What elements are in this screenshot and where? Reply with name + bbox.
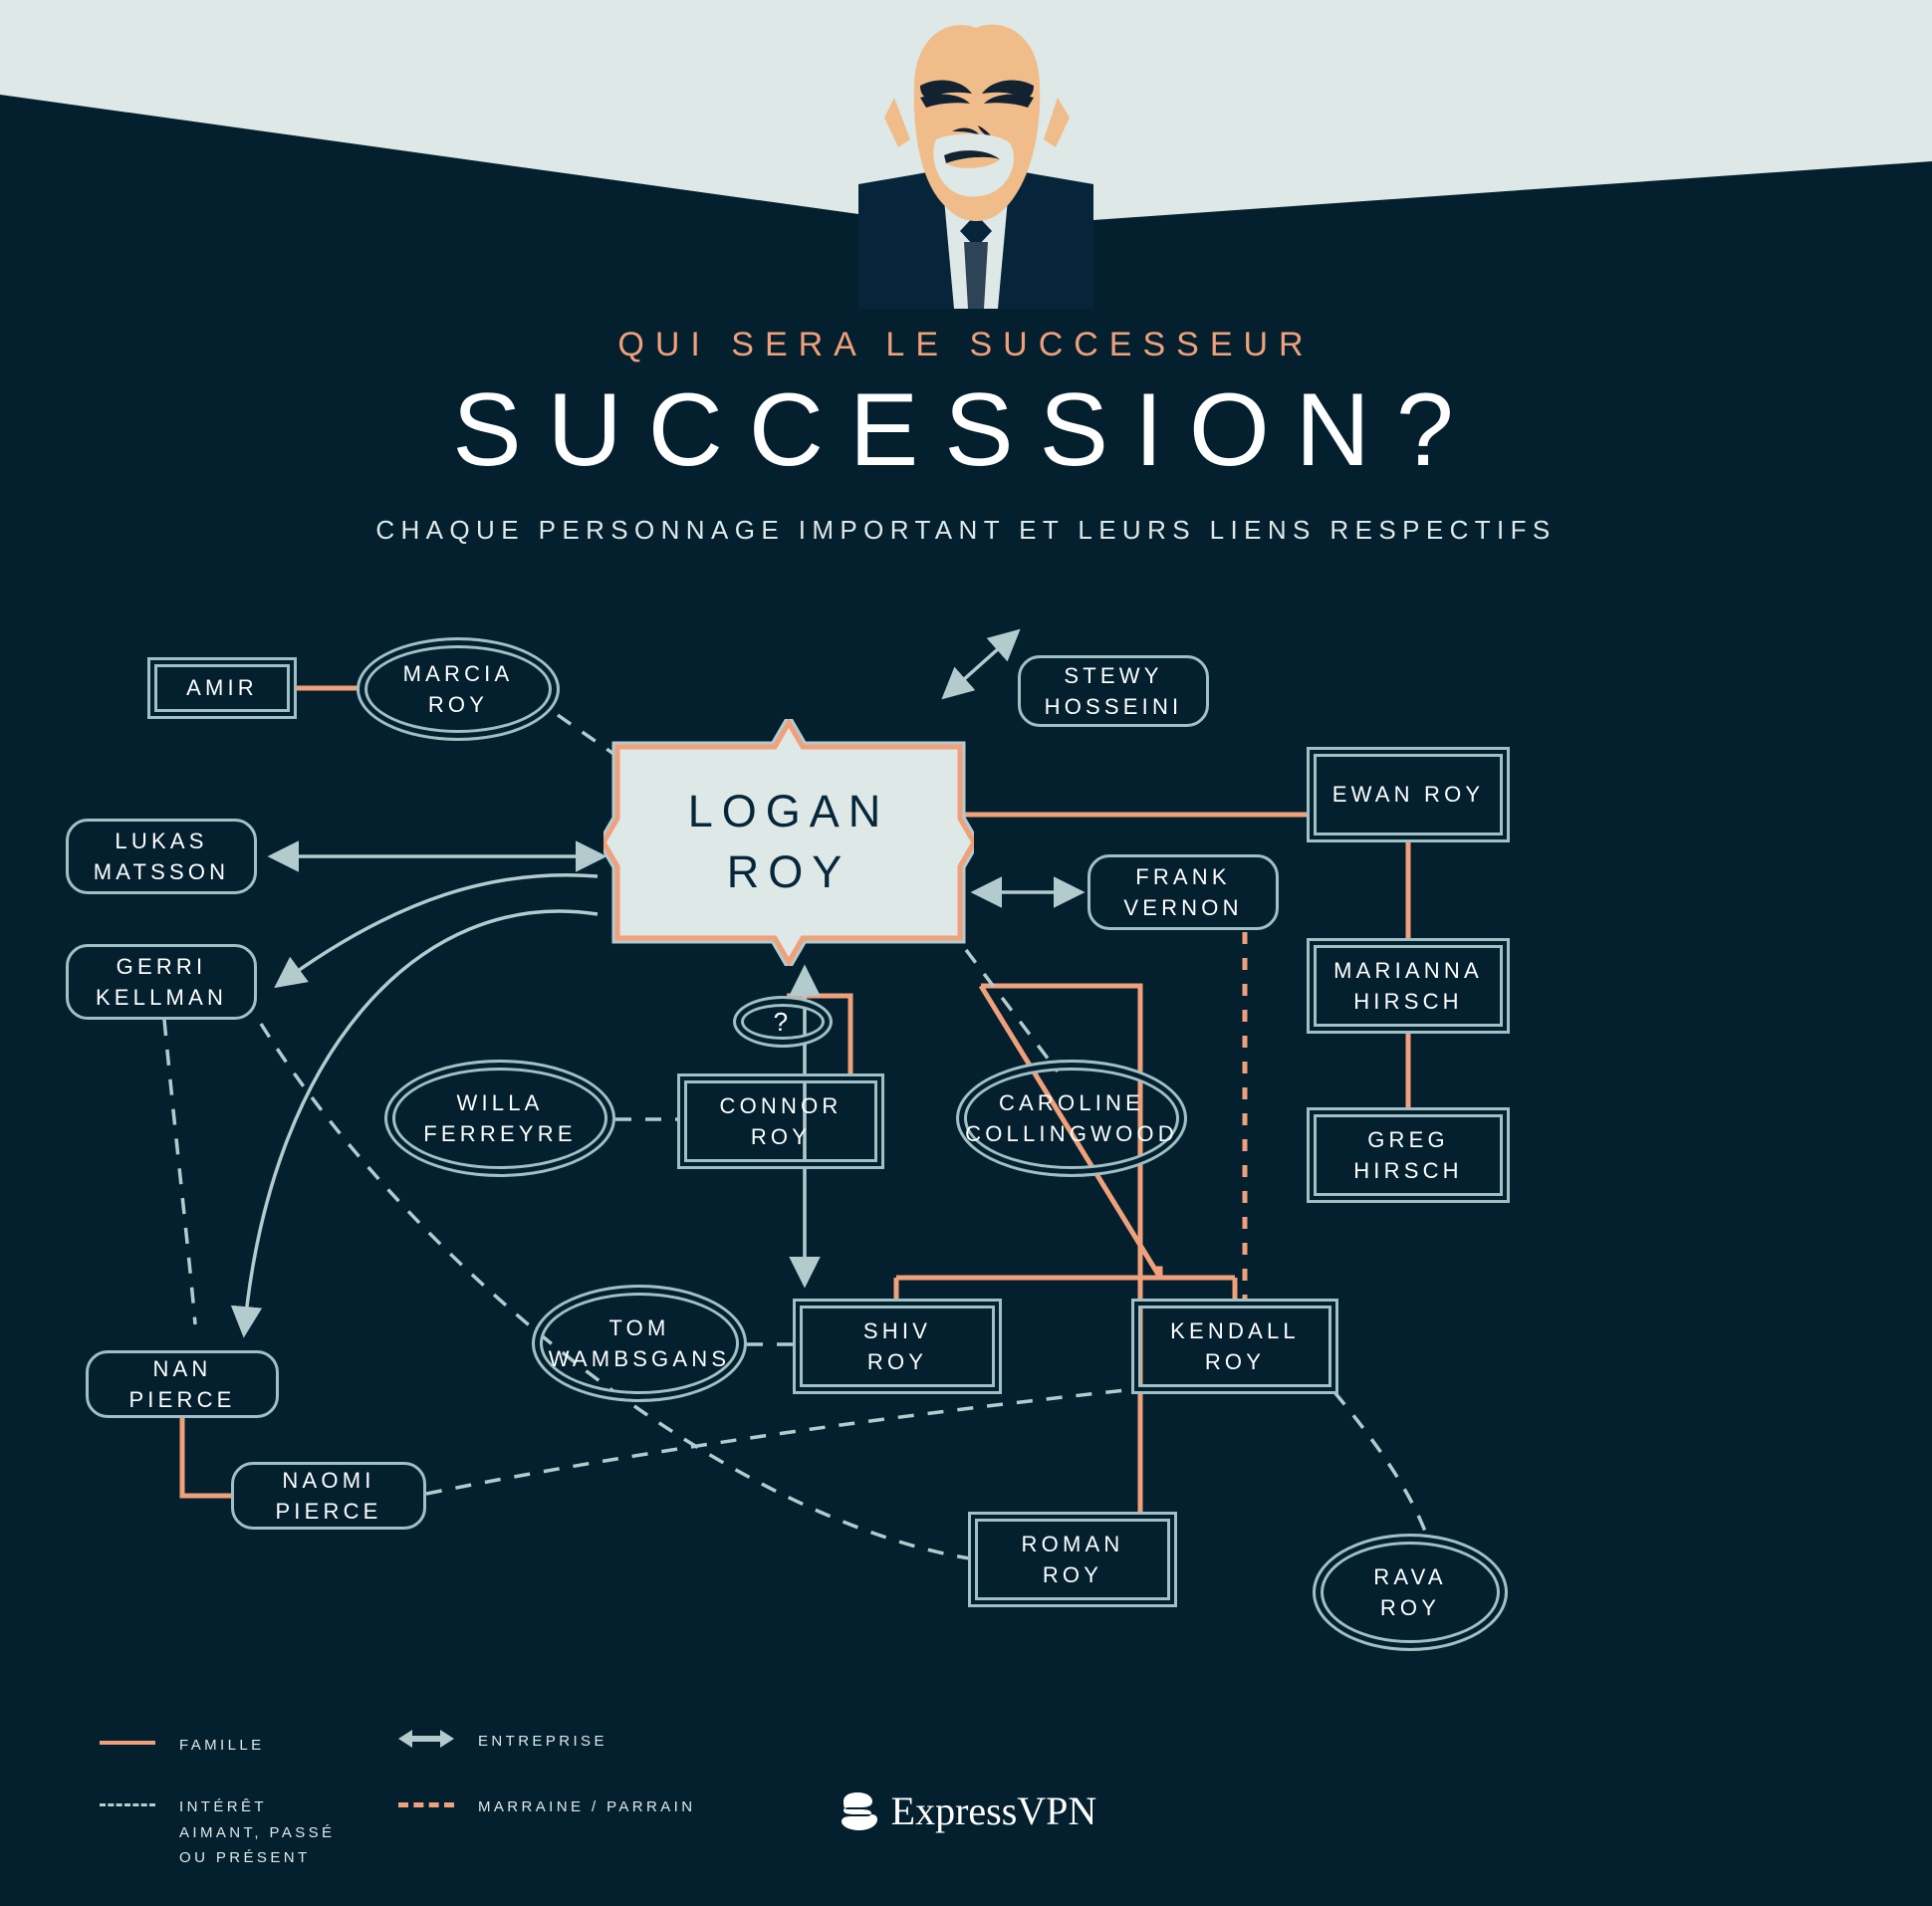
node-marcia[interactable]: MARCIA ROY: [357, 637, 560, 741]
node-label: MARCIA ROY: [403, 658, 514, 720]
legend-label-famille: FAMILLE: [179, 1733, 265, 1759]
expressvpn-logo-icon: [836, 1789, 879, 1833]
node-tom[interactable]: TOM WAMBSGANS: [532, 1285, 747, 1402]
node-marianna[interactable]: MARIANNA HIRSCH: [1307, 938, 1510, 1034]
node-label: AMIR: [186, 672, 258, 703]
node-frank[interactable]: FRANK VERNON: [1087, 854, 1279, 930]
infographic-canvas: QUI SERA LE SUCCESSEUR SUCCESSION? CHAQU…: [0, 0, 1932, 1906]
node-label: STEWY HOSSEINI: [1045, 660, 1183, 722]
node-willa[interactable]: WILLA FERREYRE: [384, 1060, 615, 1177]
node-label: ?: [774, 1004, 793, 1041]
node-stewy[interactable]: STEWY HOSSEINI: [1018, 655, 1209, 727]
node-ewan[interactable]: EWAN ROY: [1307, 747, 1510, 842]
node-label: MARIANNA HIRSCH: [1333, 955, 1483, 1017]
node-greg[interactable]: GREG HIRSCH: [1307, 1107, 1510, 1203]
node-label: GREG HIRSCH: [1353, 1124, 1463, 1186]
node-label: SHIV ROY: [863, 1315, 931, 1377]
node-naomi[interactable]: NAOMI PIERCE: [231, 1462, 426, 1530]
node-gerri[interactable]: GERRI KELLMAN: [66, 944, 257, 1020]
node-label: FRANK VERNON: [1123, 861, 1242, 923]
legend-label-entreprise: ENTREPRISE: [478, 1729, 607, 1755]
node-label: LOGAN ROY: [688, 782, 890, 903]
node-logan-roy[interactable]: LOGAN ROY: [617, 747, 960, 938]
node-caroline[interactable]: CAROLINE COLLINGWOOD: [956, 1060, 1187, 1177]
node-rava[interactable]: RAVA ROY: [1313, 1534, 1508, 1651]
node-label: CAROLINE COLLINGWOOD: [965, 1087, 1178, 1149]
node-kendall[interactable]: KENDALL ROY: [1131, 1299, 1338, 1394]
node-roman[interactable]: ROMAN ROY: [968, 1512, 1177, 1607]
node-shiv[interactable]: SHIV ROY: [793, 1299, 1002, 1394]
node-label: RAVA ROY: [1373, 1561, 1446, 1623]
node-label: KENDALL ROY: [1170, 1315, 1300, 1377]
node-label: TOM WAMBSGANS: [549, 1312, 730, 1374]
node-label: ROMAN ROY: [1022, 1529, 1124, 1590]
node-label: NAOMI PIERCE: [275, 1465, 381, 1527]
solid-line-icon: [100, 1733, 157, 1753]
node-label: EWAN ROY: [1332, 779, 1485, 810]
double-arrow-icon: [398, 1729, 456, 1749]
node-label: GERRI KELLMAN: [96, 951, 227, 1013]
node-connor[interactable]: CONNOR ROY: [677, 1073, 884, 1169]
brand-name: ExpressVPN: [891, 1787, 1097, 1834]
node-unknown[interactable]: ?: [733, 996, 833, 1048]
node-label: CONNOR ROY: [720, 1090, 843, 1152]
node-nan[interactable]: NAN PIERCE: [86, 1350, 279, 1418]
node-label: NAN PIERCE: [128, 1353, 235, 1415]
legend-item-famille: FAMILLE: [100, 1733, 265, 1759]
node-label: LUKAS MATSSON: [94, 826, 230, 887]
node-amir[interactable]: AMIR: [147, 657, 297, 719]
node-lukas[interactable]: LUKAS MATSSON: [66, 819, 257, 894]
node-label: WILLA FERREYRE: [423, 1087, 576, 1149]
brand-logo[interactable]: ExpressVPN: [0, 1787, 1932, 1838]
legend-item-entreprise: ENTREPRISE: [398, 1729, 607, 1755]
